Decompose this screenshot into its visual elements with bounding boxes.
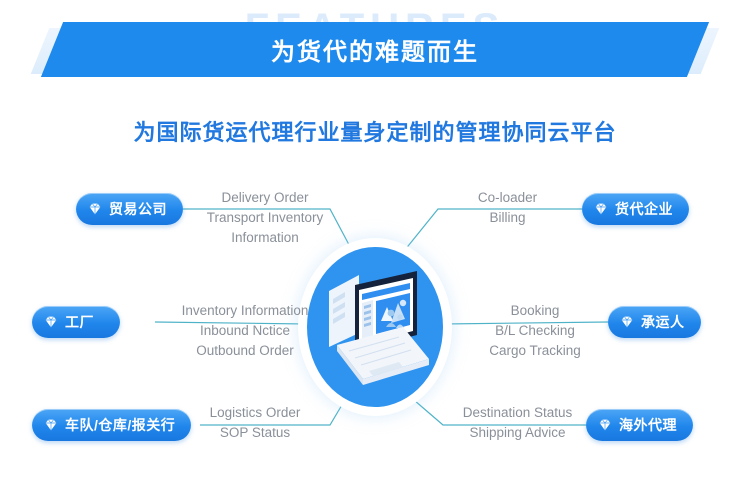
connector-line-2: SOP Status	[140, 423, 370, 443]
page-subtitle: 为国际货运代理行业量身定制的管理协同云平台	[0, 115, 750, 147]
connector-text-factory: Inventory Information Inbound Nctice Out…	[120, 301, 370, 361]
node-factory[interactable]: 工厂	[32, 306, 120, 338]
node-label: 工厂	[65, 312, 94, 332]
connector-text-freight-forwarder: Co-loader Billing	[400, 188, 615, 228]
connector-line-2: Transport Inventory	[150, 208, 380, 228]
connector-text-fleet-warehouse-broker: Logistics Order SOP Status	[140, 403, 370, 443]
connector-line-1: Destination Status	[400, 403, 635, 423]
connector-text-overseas-agent: Destination Status Shipping Advice	[400, 403, 635, 443]
connector-text-trade-company: Delivery Order Transport Inventory Infor…	[150, 188, 380, 248]
connector-line-1: Booking	[420, 301, 650, 321]
node-label: 货代企业	[615, 199, 673, 219]
connector-text-carrier: Booking B/L Checking Cargo Tracking	[420, 301, 650, 361]
banner-title: 为货代的难题而生	[0, 22, 750, 77]
connector-line-2: Shipping Advice	[400, 423, 635, 443]
connector-line-3: Information	[150, 228, 380, 248]
connector-line-2: Inbound Nctice	[120, 321, 370, 341]
connector-line-3: Outbound Order	[120, 341, 370, 361]
header-banner: FEATURES 为货代的难题而生	[0, 22, 750, 84]
diamond-icon	[87, 201, 103, 217]
connector-line-1: Inventory Information	[120, 301, 370, 321]
connector-line-2: B/L Checking	[420, 321, 650, 341]
connector-line-3: Cargo Tracking	[420, 341, 650, 361]
ecosystem-diagram: 贸易公司 Delivery Order Transport Inventory …	[0, 160, 750, 493]
connector-line-2: Billing	[400, 208, 615, 228]
diamond-icon	[43, 417, 59, 433]
connector-line-1: Delivery Order	[150, 188, 380, 208]
connector-line-1: Co-loader	[400, 188, 615, 208]
connector-line-1: Logistics Order	[140, 403, 370, 423]
diamond-icon	[43, 314, 59, 330]
features-diagram-page: FEATURES 为货代的难题而生 为国际货运代理行业量身定制的管理协同云平台	[0, 0, 750, 493]
